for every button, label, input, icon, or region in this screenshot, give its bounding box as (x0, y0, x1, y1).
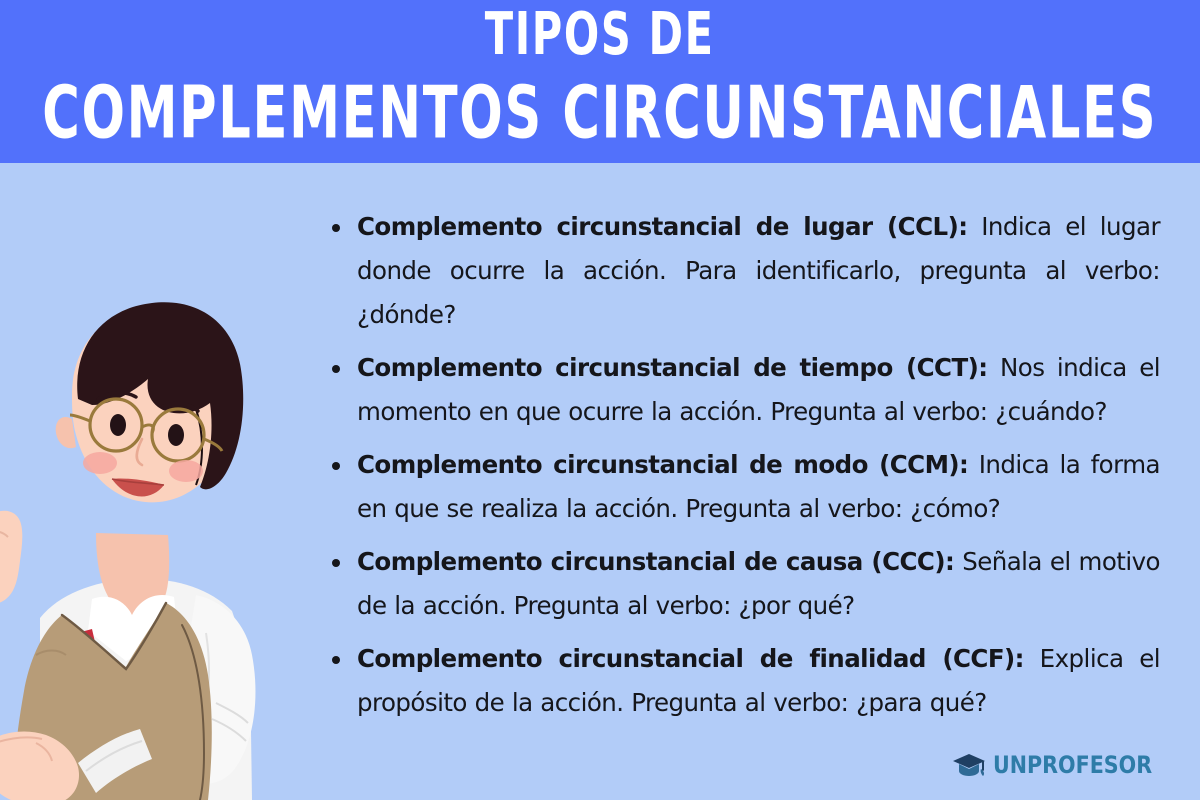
logo-wordmark: UNPROFESOR (993, 753, 1152, 777)
red-tie (62, 629, 98, 687)
pointing-hand (0, 729, 152, 800)
list-item: Complemento circunstancial de tiempo (CC… (320, 346, 1160, 434)
definition-term: Complemento circunstancial de lugar (CCL… (357, 212, 967, 241)
definitions-list: Complemento circunstancial de lugar (CCL… (320, 205, 1160, 725)
header-band: TIPOS DE COMPLEMENTOS CIRCUNSTANCIALES (0, 0, 1200, 163)
right-arm-sleeve (170, 595, 256, 784)
teacher-illustration (0, 163, 310, 800)
definition-term: Complemento circunstancial de causa (CCC… (357, 547, 954, 576)
list-item: Complemento circunstancial de finalidad … (320, 637, 1160, 725)
page-title-line-2: COMPLEMENTOS CIRCUNSTANCIALES (43, 77, 1158, 149)
character-head (56, 302, 244, 502)
thumbs-up-hand (0, 511, 22, 604)
definition-term: Complemento circunstancial de finalidad … (357, 644, 1024, 673)
round-glasses (70, 399, 222, 461)
header-title-group: TIPOS DE COMPLEMENTOS CIRCUNSTANCIALES (0, 0, 1200, 163)
definitions-panel: Complemento circunstancial de lugar (CCL… (320, 205, 1160, 725)
graduation-cap-icon (952, 752, 986, 778)
unprofesor-logo: UNPROFESOR (952, 752, 1178, 778)
list-item: Complemento circunstancial de causa (CCC… (320, 540, 1160, 628)
definition-term: Complemento circunstancial de tiempo (CC… (357, 353, 988, 382)
page-title-line-1: TIPOS DE (485, 6, 715, 65)
list-item: Complemento circunstancial de modo (CCM)… (320, 443, 1160, 531)
sweater-vest (12, 603, 212, 800)
infographic-canvas: TIPOS DE COMPLEMENTOS CIRCUNSTANCIALES (0, 0, 1200, 800)
definition-term: Complemento circunstancial de modo (CCM)… (357, 450, 968, 479)
list-item: Complemento circunstancial de lugar (CCL… (320, 205, 1160, 337)
